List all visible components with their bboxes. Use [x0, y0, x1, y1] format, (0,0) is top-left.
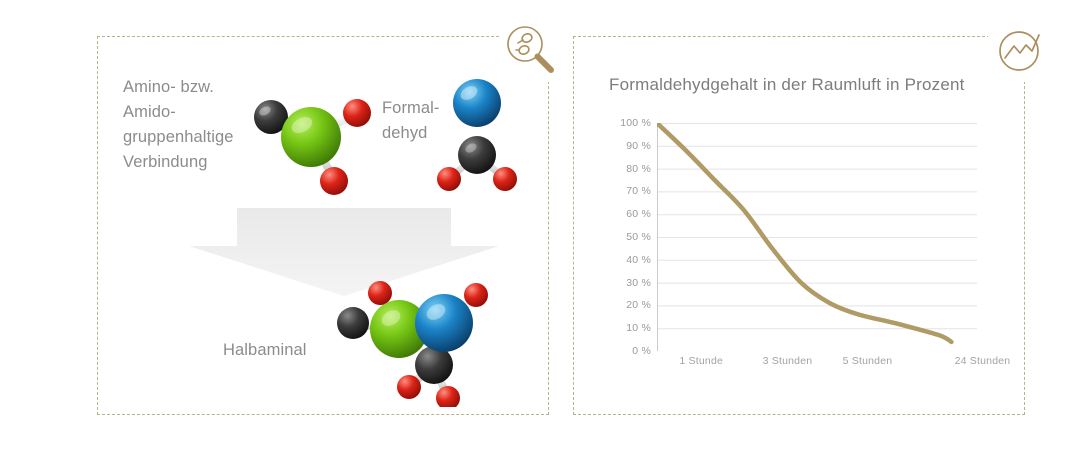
left-panel-reaction: Amino- bzw. Amido- gruppenhaltige Verbin… [97, 36, 549, 415]
y-axis-tick: 10 % [605, 323, 651, 333]
chart-area: 100 %90 %80 %70 %60 %50 %40 %30 %20 %10 … [599, 123, 999, 378]
trend-chart-icon [988, 18, 1052, 82]
amino-compound-molecule [244, 85, 372, 195]
x-axis-tick: 5 Stunden [843, 355, 893, 367]
right-panel-chart: Formaldehydgehalt in der Raumluft in Pro… [573, 36, 1025, 415]
y-axis-tick: 0 % [605, 346, 651, 356]
x-axis-labels: 1 Stunde3 Stunden5 Stunden24 Stunden [657, 355, 987, 375]
y-axis-tick: 20 % [605, 300, 651, 310]
y-axis-tick: 30 % [605, 278, 651, 288]
x-axis-tick: 1 Stunde [679, 355, 723, 367]
y-axis-tick: 40 % [605, 255, 651, 265]
y-axis-tick: 100 % [605, 118, 651, 128]
y-axis-tick: 80 % [605, 164, 651, 174]
halbaminal-molecule [328, 277, 508, 407]
y-axis-tick: 60 % [605, 209, 651, 219]
x-axis-tick: 3 Stunden [763, 355, 813, 367]
infographic-stage: Amino- bzw. Amido- gruppenhaltige Verbin… [0, 0, 1080, 462]
magnifier-molecule-icon [499, 18, 563, 82]
formaldehyde-molecule [433, 75, 521, 191]
chart-title: Formaldehydgehalt in der Raumluft in Pro… [609, 75, 965, 95]
chart-plot [657, 123, 977, 351]
chart-series-line [657, 123, 951, 342]
y-axis-labels: 100 %90 %80 %70 %60 %50 %40 %30 %20 %10 … [599, 123, 651, 351]
chart-gridlines [657, 124, 977, 352]
chart-line-svg [657, 123, 977, 351]
x-axis-tick: 24 Stunden [955, 355, 1011, 367]
y-axis-tick: 90 % [605, 141, 651, 151]
y-axis-tick: 50 % [605, 232, 651, 242]
y-axis-tick: 70 % [605, 186, 651, 196]
